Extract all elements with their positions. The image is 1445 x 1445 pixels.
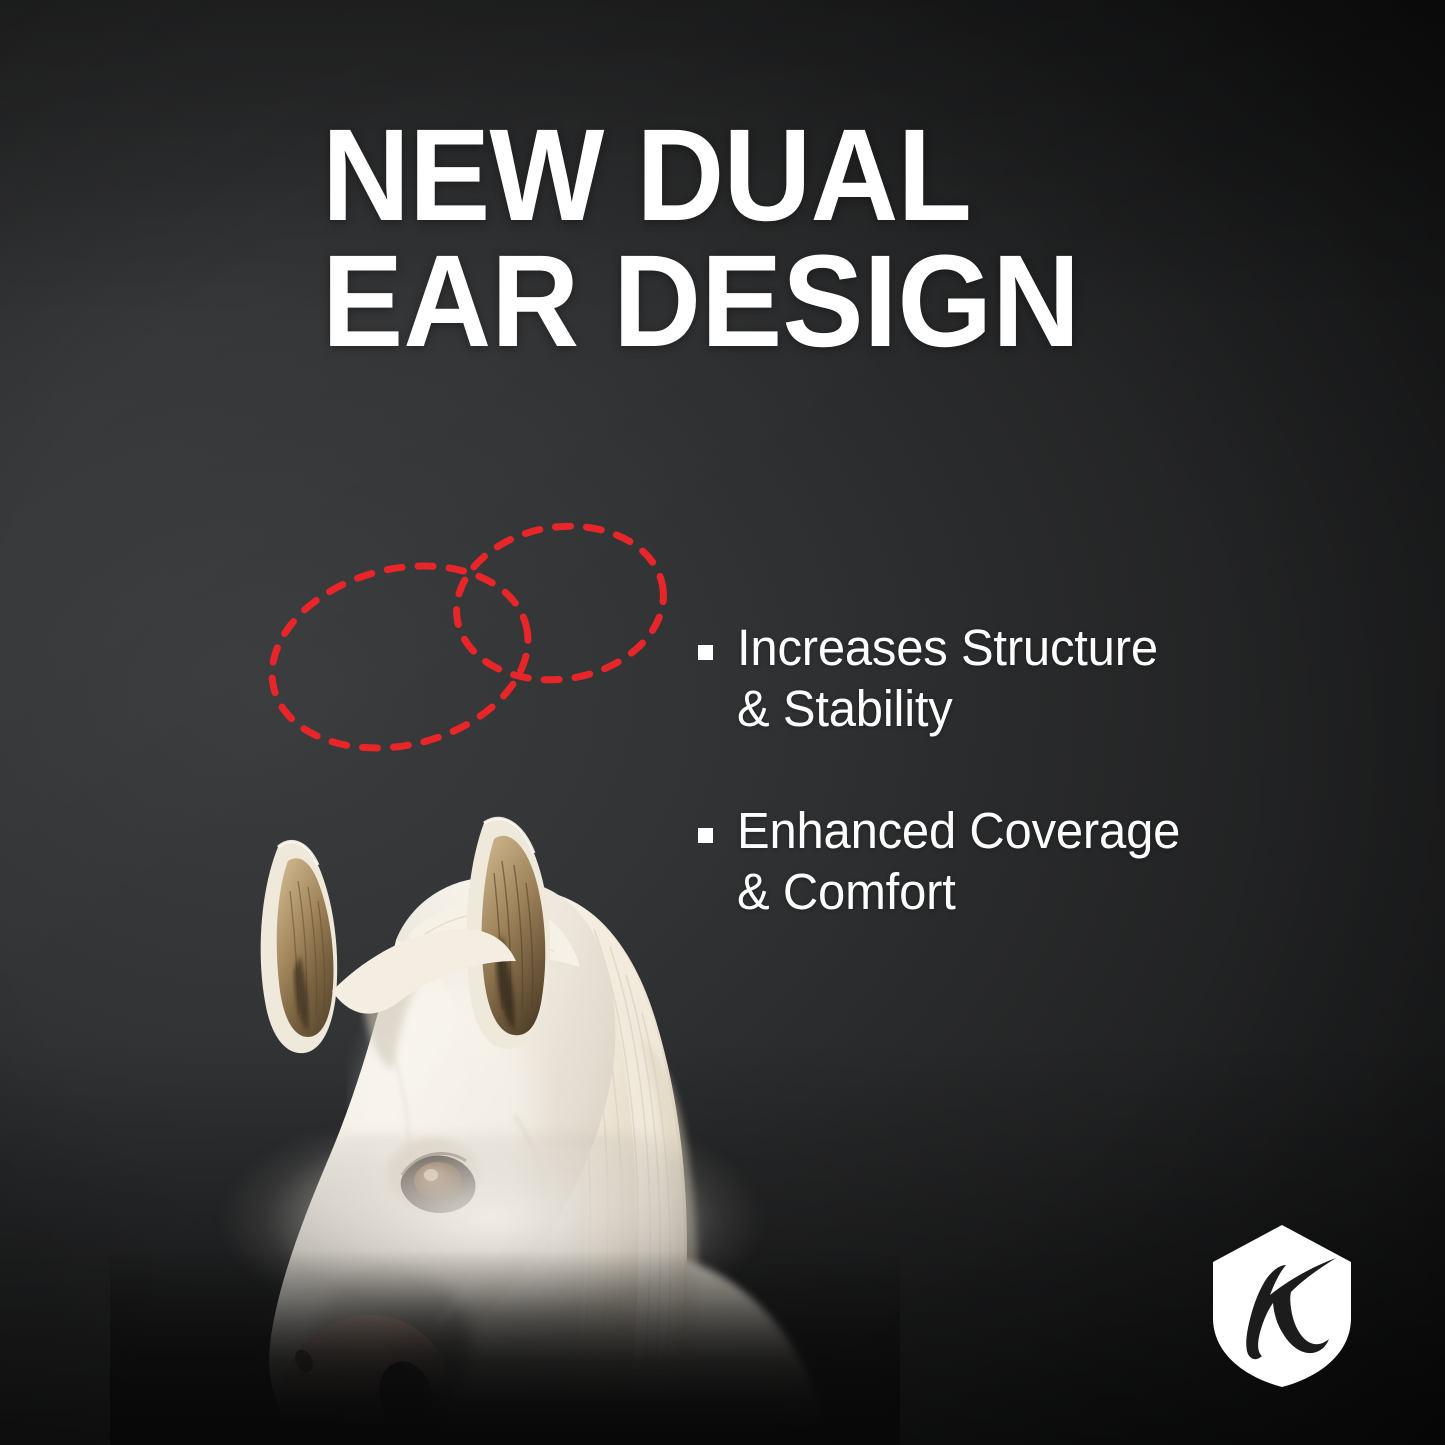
square-bullet-icon [698, 645, 713, 660]
feature-text: Increases Structure & Stability [737, 618, 1158, 739]
headline-line-1: NEW DUAL [322, 112, 1140, 238]
page-title: NEW DUAL EAR DESIGN [322, 112, 1140, 364]
headline-line-2: EAR DESIGN [322, 238, 1140, 364]
feature-line-1: Increases Structure [737, 619, 1158, 676]
feature-line-2: & Stability [737, 680, 953, 737]
list-item: Enhanced Coverage & Comfort [698, 801, 1398, 922]
promo-graphic: NEW DUAL EAR DESIGN Increases Structure … [0, 0, 1445, 1445]
brand-logo [1208, 1222, 1356, 1390]
feature-line-2: & Comfort [737, 863, 956, 920]
feature-text: Enhanced Coverage & Comfort [737, 801, 1180, 922]
square-bullet-icon [698, 828, 713, 843]
feature-list: Increases Structure & Stability Enhanced… [698, 618, 1398, 923]
feature-line-1: Enhanced Coverage [737, 802, 1180, 859]
list-item: Increases Structure & Stability [698, 618, 1398, 739]
